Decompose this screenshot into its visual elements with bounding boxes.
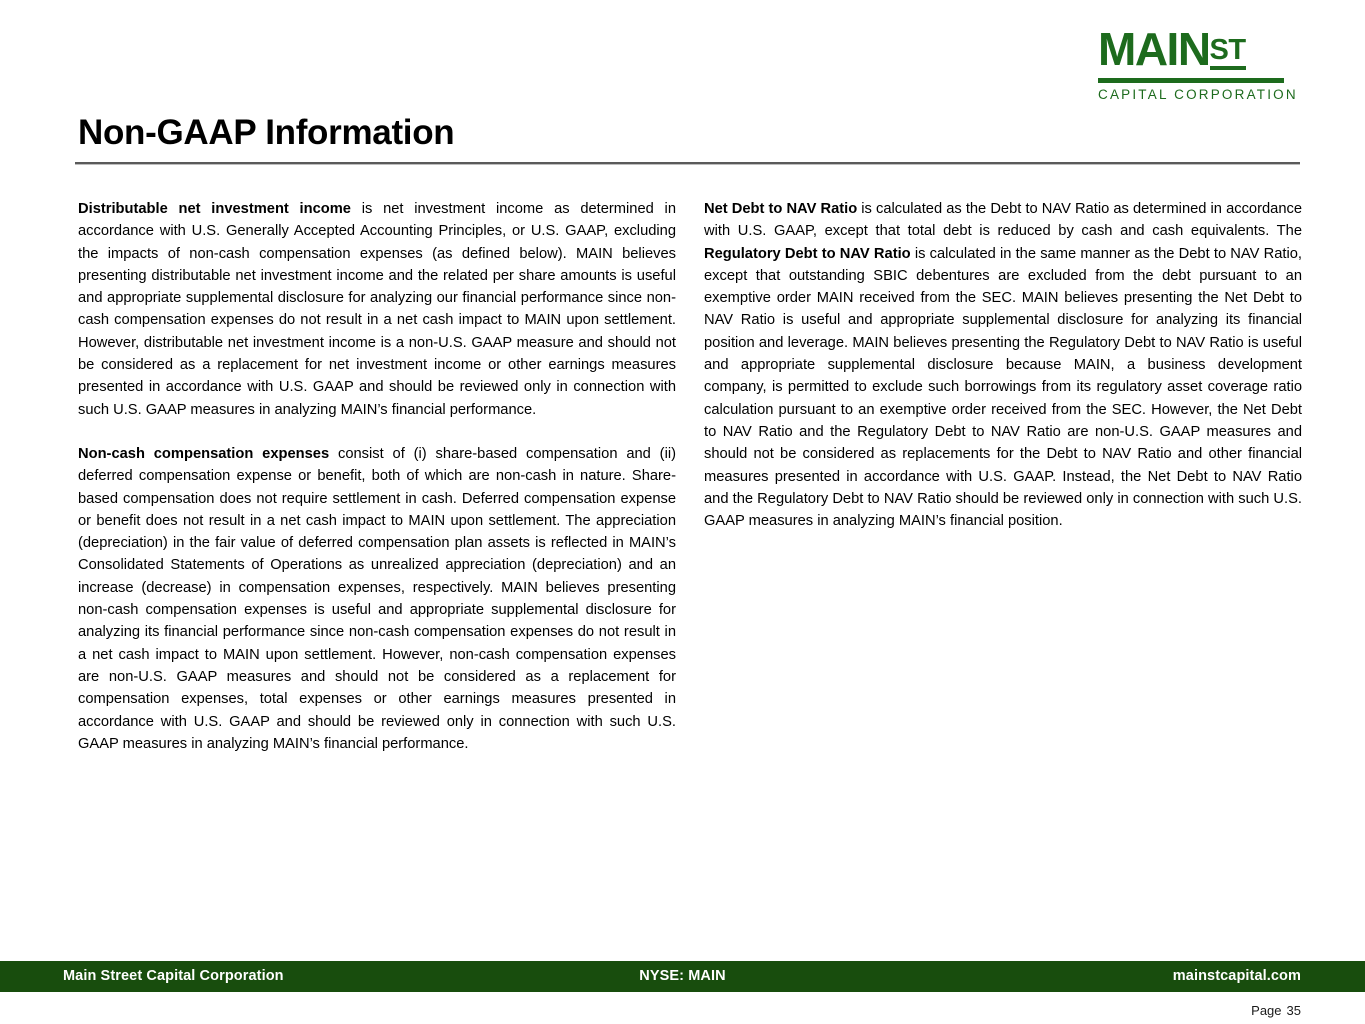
term-non-cash-compensation-expenses: Non-cash compensation expenses xyxy=(78,446,329,462)
logo-underline-rule xyxy=(1098,78,1284,83)
right-column: Net Debt to NAV Ratio is calculated as t… xyxy=(704,198,1302,755)
term-distributable-net-investment-income: Distributable net investment income xyxy=(78,201,351,217)
footer-website[interactable]: mainstcapital.com xyxy=(1173,968,1301,984)
logo-st-text: ST xyxy=(1210,37,1246,70)
page-number: Page35 xyxy=(1251,1003,1301,1018)
page-number-label: Page xyxy=(1251,1003,1281,1018)
left-column: Distributable net investment income is n… xyxy=(78,198,676,755)
footer-ticker: NYSE: MAIN xyxy=(0,968,1365,984)
logo-main-text: MAIN xyxy=(1098,23,1210,75)
term-regulatory-debt-to-nav-ratio: Regulatory Debt to NAV Ratio xyxy=(704,246,911,262)
title-divider xyxy=(75,162,1300,165)
logo-wordmark: MAINST xyxy=(1098,28,1288,76)
paragraph-distributable-net-investment-income: Distributable net investment income is n… xyxy=(78,198,676,421)
term-net-debt-to-nav-ratio: Net Debt to NAV Ratio xyxy=(704,201,857,217)
page-number-value: 35 xyxy=(1287,1003,1301,1018)
content-area: Distributable net investment income is n… xyxy=(78,198,1302,755)
paragraph-text: consist of (i) share-based compensation … xyxy=(78,446,676,752)
footer-bar: Main Street Capital Corporation NYSE: MA… xyxy=(0,961,1365,992)
paragraph-net-debt-to-nav-ratio: Net Debt to NAV Ratio is calculated as t… xyxy=(704,198,1302,532)
logo-subtitle: CAPITAL CORPORATION xyxy=(1098,87,1288,102)
company-logo: MAINST CAPITAL CORPORATION xyxy=(1098,28,1288,102)
paragraph-text: is net investment income as determined i… xyxy=(78,201,676,418)
page-title: Non-GAAP Information xyxy=(78,113,454,153)
paragraph-non-cash-compensation-expenses: Non-cash compensation expenses consist o… xyxy=(78,443,676,755)
paragraph-text-part-2: is calculated in the same manner as the … xyxy=(704,246,1302,530)
